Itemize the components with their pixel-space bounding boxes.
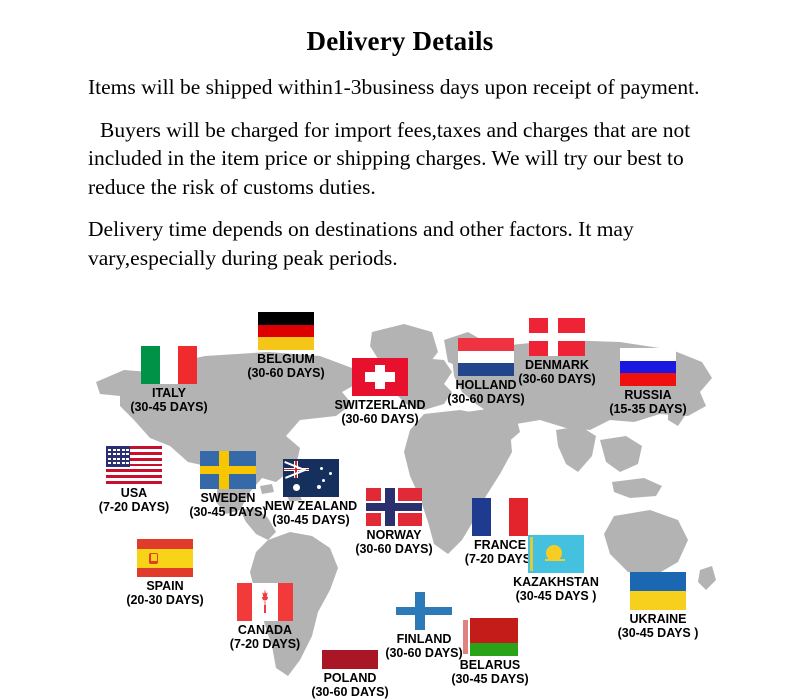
flag-icon-ukraine bbox=[630, 572, 686, 610]
flag-icon-france bbox=[472, 498, 528, 536]
country-name: RUSSIA bbox=[624, 388, 671, 402]
flag-icon-switzerland bbox=[352, 358, 408, 396]
flag-caption-poland: POLAND(30-60 DAYS) bbox=[311, 671, 388, 699]
flag-caption-norway: NORWAY(30-60 DAYS) bbox=[355, 528, 432, 556]
flag-entry-italy: ITALY(30-45 DAYS) bbox=[109, 346, 229, 414]
flag-icon-newzealand bbox=[283, 459, 339, 497]
flag-icon-italy bbox=[141, 346, 197, 384]
flag-icon-canada bbox=[237, 583, 293, 621]
flag-icon-denmark bbox=[529, 318, 585, 356]
country-name: DENMARK bbox=[525, 358, 589, 372]
flag-icon-belarus bbox=[462, 618, 518, 656]
delivery-days: (30-45 DAYS ) bbox=[618, 626, 699, 640]
flag-caption-belarus: BELARUS(30-45 DAYS) bbox=[451, 658, 528, 686]
flag-caption-spain: SPAIN(20-30 DAYS) bbox=[126, 579, 203, 607]
flag-icon-usa bbox=[106, 446, 162, 484]
delivery-days: (30-45 DAYS) bbox=[451, 672, 528, 686]
flag-icon-germany bbox=[258, 312, 314, 350]
delivery-days: (30-60 DAYS) bbox=[447, 392, 524, 406]
delivery-days: (30-60 DAYS) bbox=[518, 372, 595, 386]
flag-entry-russia: RUSSIA(15-35 DAYS) bbox=[588, 348, 708, 416]
flag-caption-ukraine: UKRAINE(30-45 DAYS ) bbox=[618, 612, 699, 640]
country-name: BELARUS bbox=[460, 658, 520, 672]
flag-icon-spain bbox=[137, 539, 193, 577]
country-name: NORWAY bbox=[367, 528, 422, 542]
delivery-days: (30-45 DAYS) bbox=[130, 400, 207, 414]
country-name: ITALY bbox=[152, 386, 186, 400]
country-name: KAZAKHSTAN bbox=[513, 575, 599, 589]
country-name: SWEDEN bbox=[201, 491, 256, 505]
flag-caption-belgium: BELGIUM(30-60 DAYS) bbox=[247, 352, 324, 380]
delivery-days: (30-60 DAYS) bbox=[355, 542, 432, 556]
paragraph-delivery-time: Delivery time depends on destinations an… bbox=[0, 215, 800, 272]
flag-entry-belarus: BELARUS(30-45 DAYS) bbox=[430, 618, 550, 686]
flag-entry-norway: NORWAY(30-60 DAYS) bbox=[334, 488, 454, 556]
flag-icon-russia bbox=[620, 348, 676, 386]
flag-icon-sweden bbox=[200, 451, 256, 489]
country-name: SPAIN bbox=[146, 579, 183, 593]
flag-icon-kazakhstan bbox=[528, 535, 584, 573]
flag-caption-italy: ITALY(30-45 DAYS) bbox=[130, 386, 207, 414]
flag-caption-kazakhstan: KAZAKHSTAN(30-45 DAYS ) bbox=[513, 575, 599, 603]
flag-icon-norway bbox=[366, 488, 422, 526]
flag-caption-usa: USA(7-20 DAYS) bbox=[99, 486, 169, 514]
delivery-days: (20-30 DAYS) bbox=[126, 593, 203, 607]
page-title: Delivery Details bbox=[0, 26, 800, 57]
flag-caption-switzerland: SWITZERLAND(30-60 DAYS) bbox=[335, 398, 426, 426]
delivery-days: (7-20 DAYS) bbox=[99, 500, 169, 514]
delivery-days: (30-60 DAYS) bbox=[247, 366, 324, 380]
paragraph-import-fees: Buyers will be charged for import fees,t… bbox=[0, 116, 800, 202]
flag-caption-denmark: DENMARK(30-60 DAYS) bbox=[518, 358, 595, 386]
country-name: SWITZERLAND bbox=[335, 398, 426, 412]
delivery-days: (30-45 DAYS ) bbox=[513, 589, 599, 603]
flag-entry-ukraine: UKRAINE(30-45 DAYS ) bbox=[598, 572, 718, 640]
country-name: USA bbox=[121, 486, 147, 500]
delivery-days: (15-35 DAYS) bbox=[609, 402, 686, 416]
country-name: UKRAINE bbox=[630, 612, 687, 626]
world-map-shipping-region: ITALY(30-45 DAYS)BELGIUM(30-60 DAYS) SWI… bbox=[0, 296, 800, 697]
paragraph-shipping-time: Items will be shipped within1-3business … bbox=[0, 73, 800, 102]
country-name: CANADA bbox=[238, 623, 292, 637]
flag-entry-switzerland: SWITZERLAND(30-60 DAYS) bbox=[320, 358, 440, 426]
country-name: POLAND bbox=[324, 671, 377, 685]
country-name: BELGIUM bbox=[257, 352, 315, 366]
delivery-details-text-block: Delivery Details Items will be shipped w… bbox=[0, 0, 800, 287]
delivery-days: (30-60 DAYS) bbox=[335, 412, 426, 426]
flag-caption-russia: RUSSIA(15-35 DAYS) bbox=[609, 388, 686, 416]
